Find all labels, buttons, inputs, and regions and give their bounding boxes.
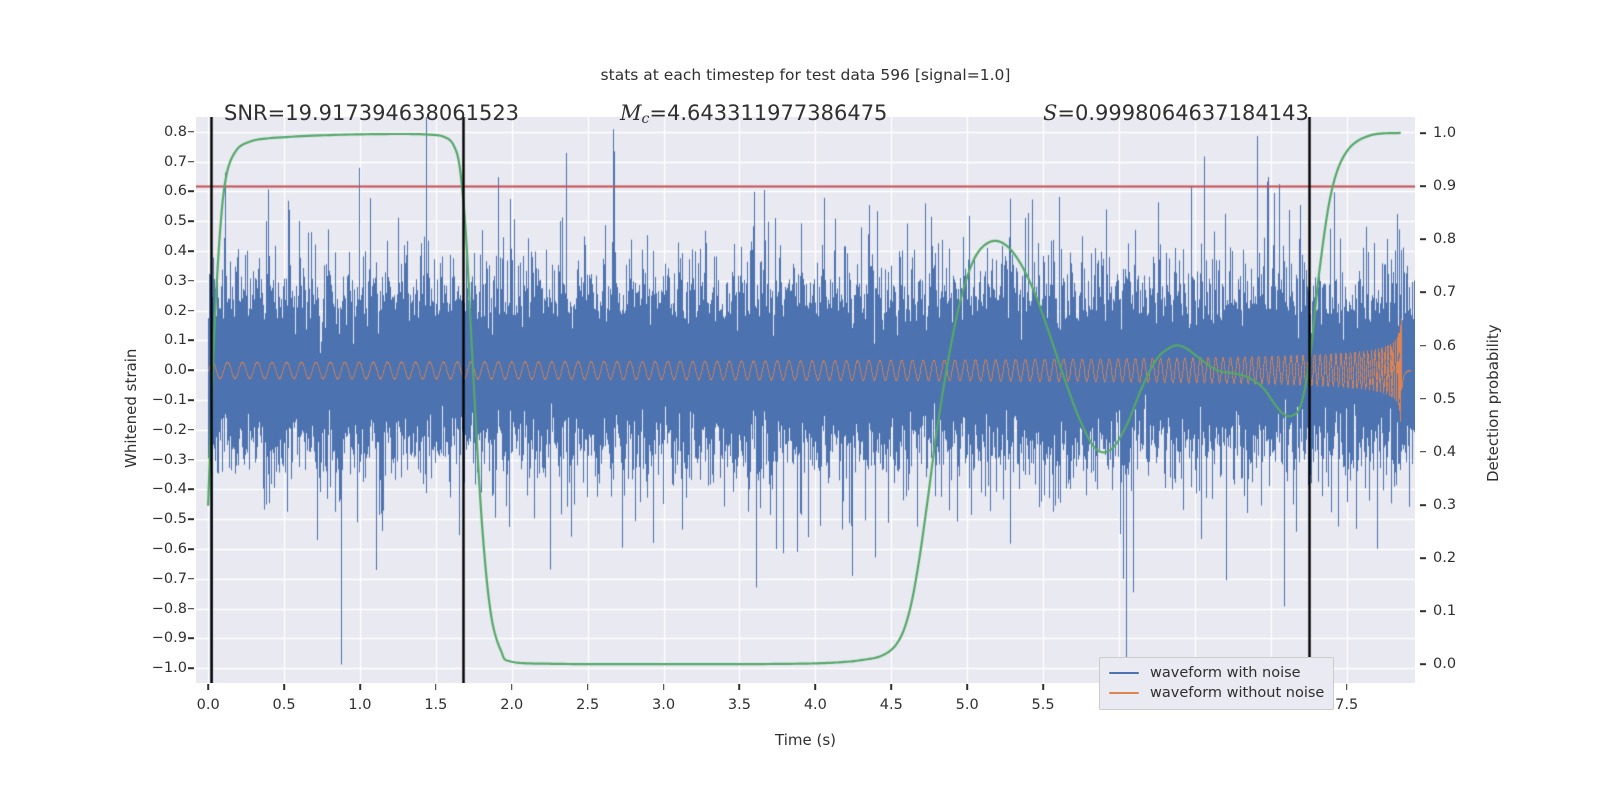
y-tick-label-left: 0.5 — [164, 213, 187, 229]
legend-label: waveform without noise — [1150, 685, 1324, 701]
y-tick-label-right: 0.0 — [1433, 656, 1456, 672]
x-tick-label: 1.5 — [424, 697, 447, 713]
y-tick-mark-right — [1420, 185, 1426, 187]
y-tick-label-right: 0.2 — [1433, 550, 1456, 566]
x-tick-mark — [359, 684, 361, 690]
x-tick-label: 7.5 — [1335, 697, 1358, 713]
annotation-mc-eq: = — [649, 101, 667, 125]
figure-canvas: stats at each timestep for test data 596… — [0, 0, 1600, 800]
y-tick-mark-left — [188, 608, 194, 610]
y-tick-mark-left — [188, 131, 194, 133]
y-tick-mark-right — [1420, 238, 1426, 240]
annotation-score: S=0.9998064637184143 — [1043, 101, 1309, 125]
annotation-snr-value: 19.917394638061523 — [285, 101, 519, 125]
x-tick-mark — [739, 684, 741, 690]
y-tick-mark-left — [188, 667, 194, 669]
y-tick-mark-left — [188, 518, 194, 520]
y-tick-mark-left — [188, 161, 194, 163]
x-tick-mark — [890, 684, 892, 690]
y-tick-mark-right — [1420, 664, 1426, 666]
y-tick-label-left: 0.7 — [164, 154, 187, 170]
plot-area — [196, 117, 1415, 683]
y-tick-mark-right — [1420, 451, 1426, 453]
y-tick-mark-left — [188, 369, 194, 371]
legend-label: waveform with noise — [1150, 665, 1301, 681]
legend: waveform with noise waveform without noi… — [1099, 657, 1334, 710]
x-tick-label: 3.0 — [652, 697, 675, 713]
y-tick-label-left: −0.7 — [152, 571, 187, 587]
annotation-s-symbol: S — [1043, 101, 1057, 125]
y-tick-mark-left — [188, 459, 194, 461]
x-tick-mark — [1346, 684, 1348, 690]
x-tick-mark — [587, 684, 589, 690]
x-tick-mark — [1042, 684, 1044, 690]
page-title: stats at each timestep for test data 596… — [196, 66, 1415, 84]
y-tick-label-left: 0.4 — [164, 243, 187, 259]
y-tick-label-right: 1.0 — [1433, 125, 1456, 141]
y-tick-label-left: −0.3 — [152, 452, 187, 468]
legend-swatch-orange — [1109, 692, 1139, 695]
y-tick-label-right: 0.1 — [1433, 603, 1456, 619]
x-tick-label: 4.0 — [804, 697, 827, 713]
y-tick-label-left: −0.4 — [152, 481, 187, 497]
x-tick-mark — [663, 684, 665, 690]
annotation-mc-value: 4.643311977386475 — [667, 101, 887, 125]
y-tick-label-right: 0.8 — [1433, 231, 1456, 247]
y-tick-mark-left — [188, 340, 194, 342]
y-tick-mark-left — [188, 548, 194, 550]
y-tick-label-left: 0.8 — [164, 124, 187, 140]
x-tick-mark — [435, 684, 437, 690]
y-tick-mark-left — [188, 399, 194, 401]
y-tick-mark-left — [188, 310, 194, 312]
y-axis-label-right: Detection probability — [1484, 324, 1502, 482]
y-tick-label-right: 0.5 — [1433, 391, 1456, 407]
y-tick-mark-left — [188, 280, 194, 282]
y-tick-mark-left — [188, 578, 194, 580]
x-tick-label: 2.0 — [500, 697, 523, 713]
annotation-s-value: 0.9998064637184143 — [1075, 101, 1309, 125]
y-tick-label-left: 0.3 — [164, 273, 187, 289]
y-tick-label-left: 0.1 — [164, 332, 187, 348]
y-tick-mark-right — [1420, 292, 1426, 294]
x-tick-label: 5.5 — [1032, 697, 1055, 713]
x-tick-label: 1.0 — [348, 697, 371, 713]
y-tick-label-left: −0.8 — [152, 601, 187, 617]
y-tick-mark-right — [1420, 398, 1426, 400]
y-tick-label-right: 0.7 — [1433, 284, 1456, 300]
y-tick-label-left: −0.6 — [152, 541, 187, 557]
x-tick-mark — [283, 684, 285, 690]
y-tick-label-left: 0.0 — [164, 362, 187, 378]
x-tick-label: 3.5 — [728, 697, 751, 713]
y-tick-label-right: 0.3 — [1433, 497, 1456, 513]
y-tick-mark-right — [1420, 345, 1426, 347]
x-tick-mark — [966, 684, 968, 690]
y-tick-mark-left — [188, 191, 194, 193]
y-tick-mark-right — [1420, 504, 1426, 506]
y-tick-label-left: −0.9 — [152, 630, 187, 646]
y-tick-mark-left — [188, 638, 194, 640]
y-tick-label-left: −0.1 — [152, 392, 187, 408]
annotation-s-eq: = — [1057, 101, 1075, 125]
x-tick-label: 5.0 — [956, 697, 979, 713]
x-tick-label: 4.5 — [880, 697, 903, 713]
y-tick-label-right: 0.6 — [1433, 338, 1456, 354]
y-tick-label-left: 0.2 — [164, 303, 187, 319]
y-tick-label-right: 0.4 — [1433, 444, 1456, 460]
y-tick-label-left: 0.6 — [164, 183, 187, 199]
y-tick-label-left: −0.2 — [152, 422, 187, 438]
x-tick-mark — [815, 684, 817, 690]
y-tick-mark-left — [188, 489, 194, 491]
x-tick-label: 0.0 — [197, 697, 220, 713]
y-tick-mark-left — [188, 429, 194, 431]
y-tick-mark-right — [1420, 557, 1426, 559]
x-tick-label: 0.5 — [273, 697, 296, 713]
annotation-snr-text: SNR= — [224, 101, 285, 125]
x-tick-label: 2.5 — [576, 697, 599, 713]
y-tick-label-right: 0.9 — [1433, 178, 1456, 194]
y-tick-mark-left — [188, 250, 194, 252]
y-tick-mark-left — [188, 220, 194, 222]
annotation-mc-symbol: M — [620, 101, 642, 125]
x-axis-label: Time (s) — [196, 731, 1415, 749]
x-tick-mark — [511, 684, 513, 690]
waveform-plot-canvas — [196, 117, 1415, 683]
legend-item: waveform without noise — [1109, 683, 1324, 703]
y-tick-label-left: −0.5 — [152, 511, 187, 527]
y-axis-label-left: Whitened strain — [122, 349, 140, 468]
annotation-snr: SNR=19.917394638061523 — [224, 101, 519, 125]
x-tick-mark — [207, 684, 209, 690]
y-tick-mark-right — [1420, 610, 1426, 612]
y-tick-label-left: −1.0 — [152, 660, 187, 676]
y-tick-mark-right — [1420, 132, 1426, 134]
legend-item: waveform with noise — [1109, 663, 1324, 683]
annotation-chirp-mass: Mc=4.643311977386475 — [620, 101, 887, 127]
legend-swatch-blue — [1109, 672, 1139, 675]
